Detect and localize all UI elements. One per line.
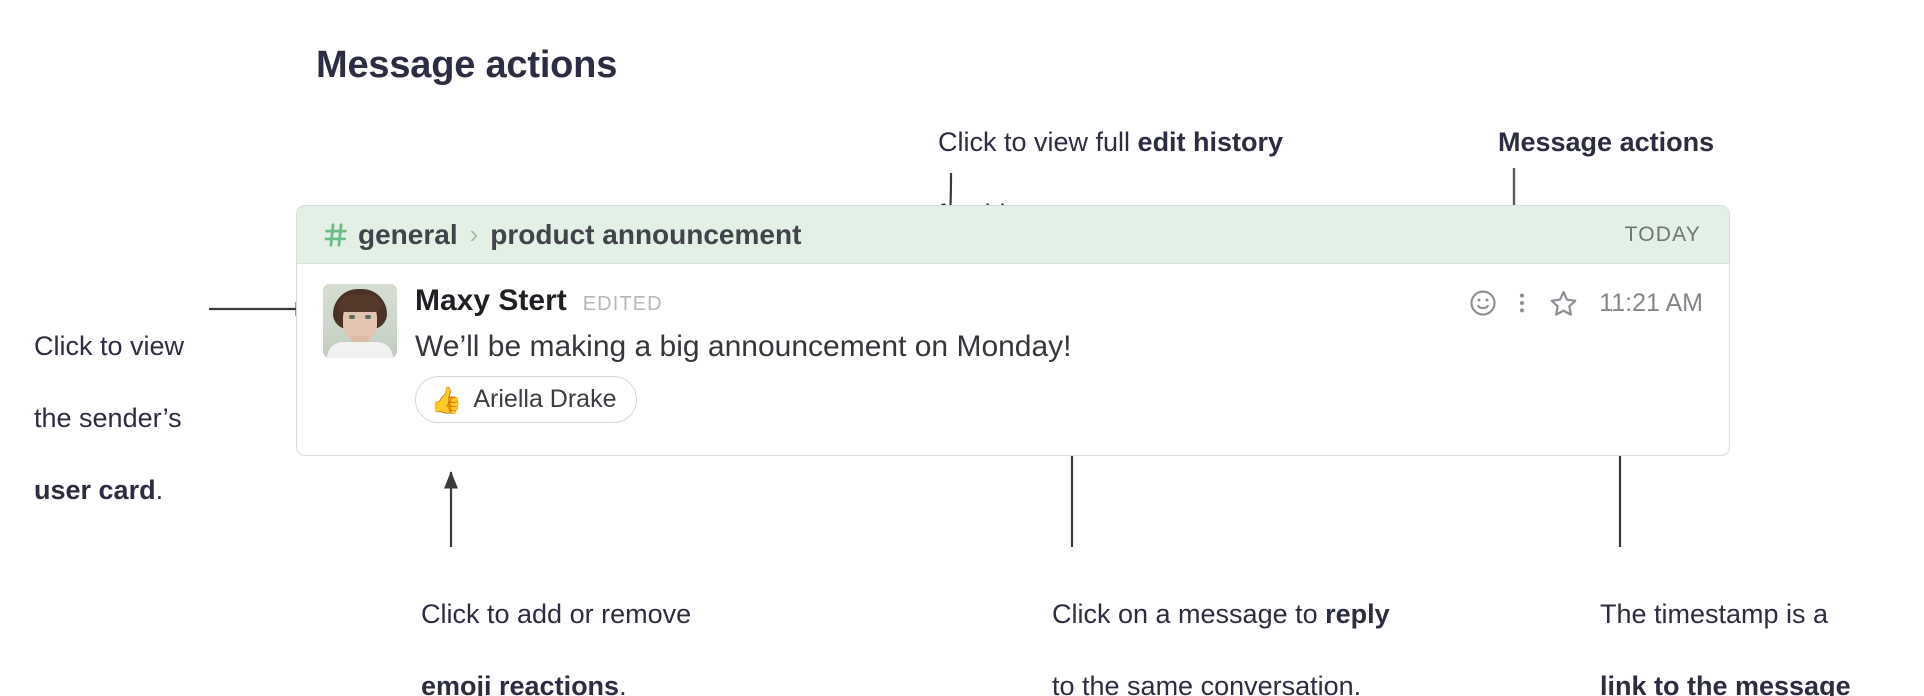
- breadcrumb-topic[interactable]: product announcement: [490, 219, 801, 251]
- add-reaction-icon[interactable]: [1461, 286, 1505, 320]
- message-row[interactable]: Maxy Stert EDITED We’ll be making a big …: [297, 264, 1729, 364]
- screenshot-root: Message actions Click to view full edit …: [0, 0, 1924, 696]
- reactions-row: 👍 Ariella Drake: [297, 376, 1729, 423]
- thumbs-up-icon: 👍: [430, 387, 462, 413]
- annotation-user-card-bold: user card: [34, 475, 156, 505]
- annotation-emoji-line1: Click to add or remove: [421, 599, 691, 629]
- message-actions-toolbar: 11:21 AM: [1461, 286, 1703, 320]
- annotation-emoji-reactions: Click to add or remove emoji reactions.: [421, 560, 691, 696]
- annotation-timestamp-line1: The timestamp is a: [1600, 599, 1828, 629]
- annotation-user-card-line2: the sender’s: [34, 403, 182, 433]
- page-title: Message actions: [316, 44, 617, 87]
- annotation-emoji-bold: emoji reactions: [421, 671, 619, 696]
- annotation-timestamp: The timestamp is a link to the message (…: [1600, 560, 1851, 696]
- annotation-actions-menu-bold: Message actions: [1498, 127, 1714, 157]
- annotation-user-card-line1: Click to view: [34, 331, 184, 361]
- reaction-pill[interactable]: 👍 Ariella Drake: [415, 376, 637, 423]
- message-text[interactable]: We’ll be making a big announcement on Mo…: [415, 330, 1703, 364]
- annotation-reply-line1: Click on a message to: [1052, 599, 1325, 629]
- annotation-edit-history-line1: Click to view full: [938, 127, 1138, 157]
- annotation-timestamp-bold: link to the message: [1600, 671, 1851, 696]
- channel-header: general › product announcement TODAY: [297, 206, 1729, 264]
- annotation-emoji-period: .: [619, 671, 627, 696]
- annotation-edit-history-bold: edit history: [1138, 127, 1284, 157]
- hash-icon: [323, 222, 349, 248]
- sender-name[interactable]: Maxy Stert: [415, 284, 567, 318]
- avatar[interactable]: [323, 284, 397, 358]
- annotation-reply-line2: to the same conversation.: [1052, 671, 1361, 696]
- breadcrumb-separator-icon: ›: [470, 219, 479, 250]
- reaction-user-label: Ariella Drake: [473, 385, 616, 414]
- kebab-menu-icon[interactable]: [1505, 286, 1539, 320]
- annotation-reply-bold: reply: [1325, 599, 1390, 629]
- breadcrumb-channel[interactable]: general: [358, 219, 458, 251]
- day-label: TODAY: [1625, 223, 1701, 247]
- annotation-user-card: Click to view the sender’s user card.: [34, 292, 184, 508]
- message-panel: general › product announcement TODAY Max…: [296, 205, 1730, 456]
- star-icon[interactable]: [1539, 286, 1587, 320]
- annotation-reply: Click on a message to reply to the same …: [1052, 560, 1390, 696]
- message-timestamp[interactable]: 11:21 AM: [1599, 289, 1703, 318]
- edited-badge[interactable]: EDITED: [583, 293, 663, 316]
- annotation-user-card-period: .: [156, 475, 164, 505]
